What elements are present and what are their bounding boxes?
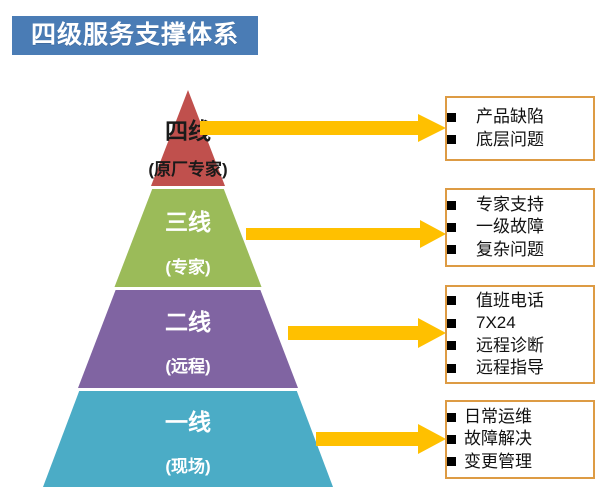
- list-item: 复杂问题: [447, 239, 593, 261]
- callout-list-tier-1: 日常运维 故障解决 变更管理: [447, 406, 593, 473]
- square-bullet-icon: [447, 223, 456, 232]
- square-bullet-icon: [447, 135, 456, 144]
- square-bullet-icon: [447, 201, 456, 210]
- list-item: 日常运维: [447, 406, 593, 428]
- arrow-tier-1: [316, 424, 446, 454]
- list-item: 底层问题: [447, 129, 593, 151]
- callout-box-tier-4[interactable]: 产品缺陷 底层问题: [445, 96, 595, 161]
- list-item: 产品缺陷: [447, 106, 593, 128]
- pyramid-tier-2-shape: [78, 290, 298, 388]
- square-bullet-icon: [447, 435, 456, 444]
- list-item: 专家支持: [447, 194, 593, 216]
- callout-list-tier-4: 产品缺陷 底层问题: [447, 106, 593, 151]
- slide-canvas: 四级服务支撑体系 四线 (原厂专家) 三线 (专家) 二线 (远程) 一线 (现…: [0, 0, 612, 500]
- pyramid-tier-3-shape: [115, 189, 262, 287]
- list-item: 远程诊断: [447, 335, 593, 357]
- list-item: 远程指导: [447, 357, 593, 379]
- square-bullet-icon: [447, 319, 456, 328]
- list-item: 变更管理: [447, 451, 593, 473]
- callout-box-tier-2[interactable]: 值班电话 7X24 远程诊断 远程指导: [445, 285, 595, 384]
- square-bullet-icon: [447, 413, 456, 422]
- square-bullet-icon: [447, 457, 456, 466]
- square-bullet-icon: [447, 341, 456, 350]
- callout-list-tier-2: 值班电话 7X24 远程诊断 远程指导: [447, 290, 593, 380]
- square-bullet-icon: [447, 245, 456, 254]
- list-item: 一级故障: [447, 216, 593, 238]
- list-item: 7X24: [447, 312, 593, 334]
- arrow-tier-4: [200, 114, 446, 142]
- square-bullet-icon: [447, 296, 456, 305]
- square-bullet-icon: [447, 364, 456, 373]
- arrow-tier-3: [246, 220, 446, 248]
- list-item: 值班电话: [447, 290, 593, 312]
- callout-box-tier-3[interactable]: 专家支持 一级故障 复杂问题: [445, 188, 595, 267]
- pyramid-tier-1-shape: [43, 391, 333, 487]
- callout-list-tier-3: 专家支持 一级故障 复杂问题: [447, 194, 593, 261]
- arrow-tier-2: [288, 318, 446, 348]
- square-bullet-icon: [447, 113, 456, 122]
- list-item: 故障解决: [447, 428, 593, 450]
- callout-box-tier-1[interactable]: 日常运维 故障解决 变更管理: [445, 400, 595, 479]
